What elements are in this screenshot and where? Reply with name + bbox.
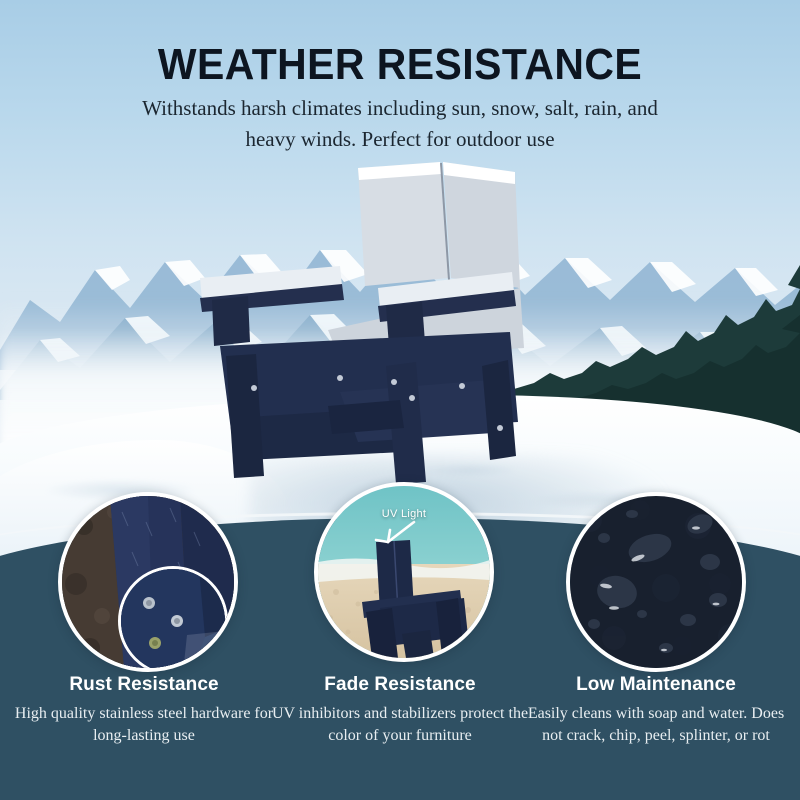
feature-heading: Rust Resistance: [14, 674, 274, 696]
feature-heading: Low Maintenance: [526, 674, 786, 696]
hardware-magnifier-inset: [118, 566, 228, 672]
page-subtitle: Withstands harsh climates including sun,…: [120, 93, 680, 155]
feature-block-low-maintenance: Low Maintenance Easily cleans with soap …: [526, 674, 786, 747]
feature-body: UV inhibitors and stabilizers protect th…: [270, 703, 530, 747]
infographic-canvas: UV Light: [0, 0, 800, 800]
feature-image-fade-resistance: UV Light: [314, 482, 494, 662]
feature-body: High quality stainless steel hardware fo…: [14, 703, 274, 747]
feature-heading: Fade Resistance: [270, 674, 530, 696]
feature-block-fade-resistance: Fade Resistance UV inhibitors and stabil…: [270, 674, 530, 747]
page-title: WEATHER RESISTANCE: [28, 40, 772, 90]
feature-block-rust-resistance: Rust Resistance High quality stainless s…: [14, 674, 274, 747]
feature-image-rust-resistance: [58, 492, 238, 672]
uv-light-label: UV Light: [318, 508, 490, 520]
feature-body: Easily cleans with soap and water. Does …: [526, 703, 786, 747]
feature-image-low-maintenance: [566, 492, 746, 672]
